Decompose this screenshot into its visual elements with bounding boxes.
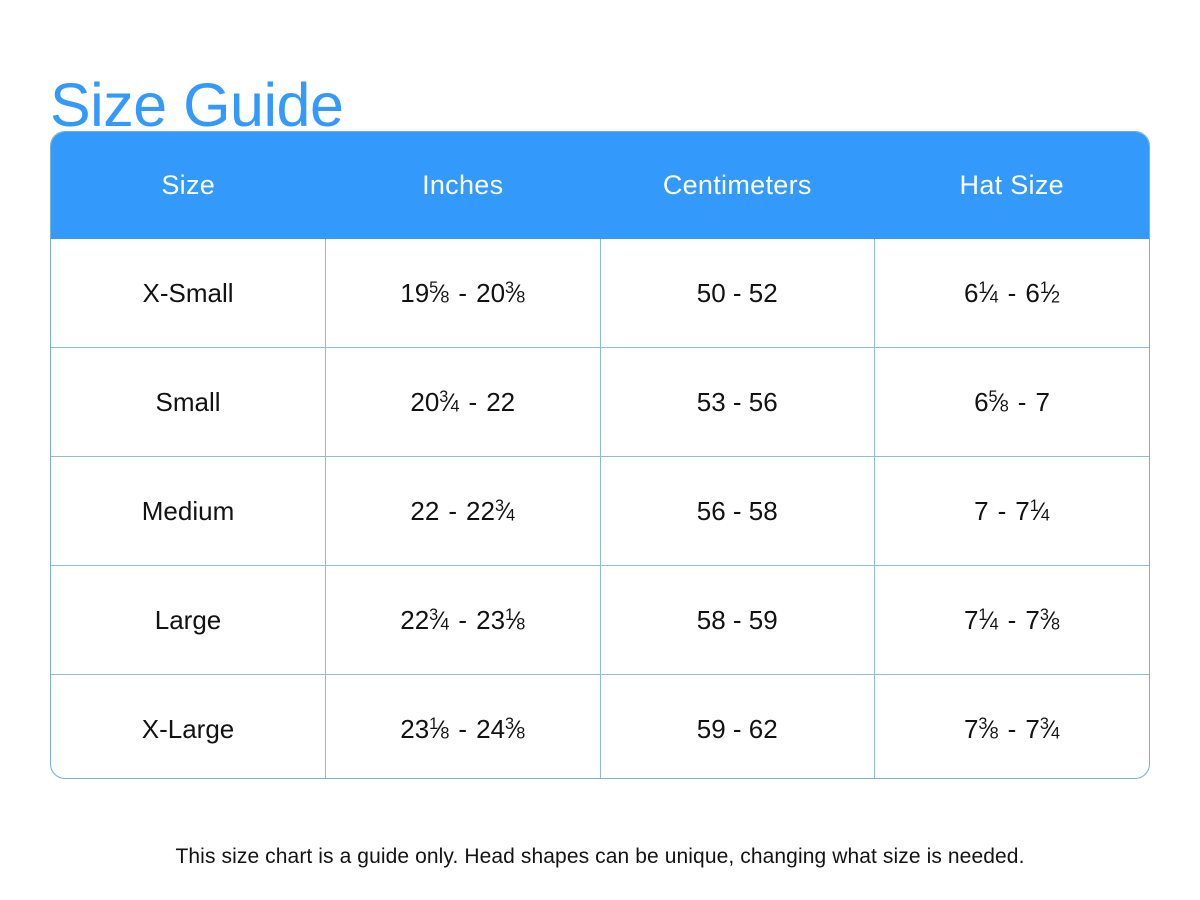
column-header-inches: Inches [326,132,601,239]
table-header: Size Inches Centimeters Hat Size [51,132,1149,239]
table-body: X-Small195⁄8 - 203⁄850 - 5261⁄4 - 61⁄2Sm… [51,239,1149,779]
cell-hat-size: 7 - 71⁄4 [875,457,1150,566]
cell-hat-size: 71⁄4 - 73⁄8 [875,566,1150,675]
footnote-text: This size chart is a guide only. Head sh… [0,845,1200,869]
size-guide-page: Size Guide Size Inches Centimeters Hat S… [0,0,1200,900]
cell-centimeters: 53 - 56 [600,348,875,457]
table-row: X-Small195⁄8 - 203⁄850 - 5261⁄4 - 61⁄2 [51,239,1149,348]
column-header-centimeters: Centimeters [600,132,875,239]
cell-size: X-Small [51,239,326,348]
column-header-hat-size: Hat Size [875,132,1150,239]
cell-centimeters: 56 - 58 [600,457,875,566]
cell-hat-size: 73⁄8 - 73⁄4 [875,675,1150,780]
cell-size: X-Large [51,675,326,780]
size-chart-table: Size Inches Centimeters Hat Size X-Small… [51,132,1149,779]
table-row: Large223⁄4 - 231⁄858 - 5971⁄4 - 73⁄8 [51,566,1149,675]
cell-hat-size: 65⁄8 - 7 [875,348,1150,457]
size-chart-container: Size Inches Centimeters Hat Size X-Small… [50,131,1150,779]
cell-size: Medium [51,457,326,566]
cell-hat-size: 61⁄4 - 61⁄2 [875,239,1150,348]
table-header-row: Size Inches Centimeters Hat Size [51,132,1149,239]
cell-size: Large [51,566,326,675]
table-row: Medium22 - 223⁄456 - 587 - 71⁄4 [51,457,1149,566]
table-row: Small203⁄4 - 2253 - 5665⁄8 - 7 [51,348,1149,457]
cell-size: Small [51,348,326,457]
cell-centimeters: 58 - 59 [600,566,875,675]
cell-centimeters: 50 - 52 [600,239,875,348]
table-row: X-Large231⁄8 - 243⁄859 - 6273⁄8 - 73⁄4 [51,675,1149,780]
cell-inches: 203⁄4 - 22 [326,348,601,457]
cell-inches: 223⁄4 - 231⁄8 [326,566,601,675]
cell-inches: 195⁄8 - 203⁄8 [326,239,601,348]
cell-inches: 22 - 223⁄4 [326,457,601,566]
cell-inches: 231⁄8 - 243⁄8 [326,675,601,780]
column-header-size: Size [51,132,326,239]
cell-centimeters: 59 - 62 [600,675,875,780]
